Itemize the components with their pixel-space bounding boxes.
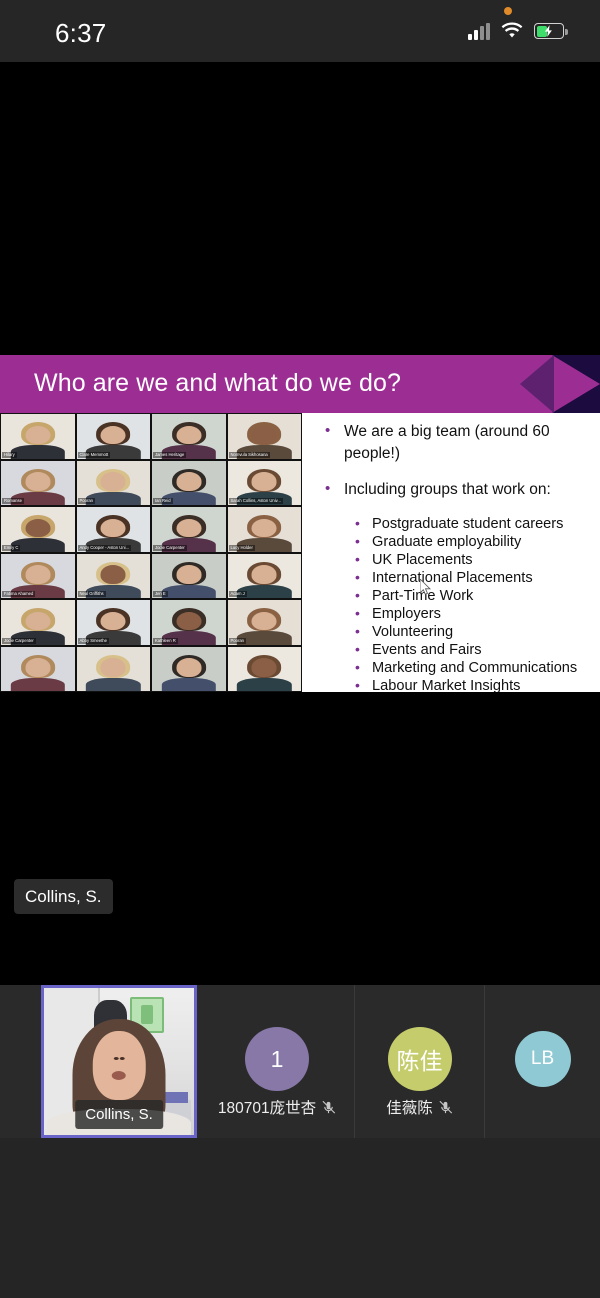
collage-participant-name: Neal Griffiths xyxy=(78,591,106,597)
mic-off-icon xyxy=(438,1100,453,1115)
slide-sub-bullet: Employers xyxy=(312,605,594,623)
collage-participant-thumb: Emily C xyxy=(1,507,75,552)
slide-sub-bullet: Graduate employability xyxy=(312,533,594,551)
participant-name: Collins, S. xyxy=(75,1100,163,1129)
collage-participant-thumb: Jen E xyxy=(152,554,226,599)
banner-chevron-mid-decoration xyxy=(520,355,554,413)
avatar: 陈佳 xyxy=(388,1027,452,1091)
collage-participant-name: Abby Smeethe xyxy=(78,638,109,644)
mic-in-use-indicator-icon xyxy=(504,7,512,15)
participant-tile[interactable]: 1 180701庞世杏 xyxy=(200,985,355,1138)
shared-slide[interactable]: Who are we and what do we do? HilaryClar… xyxy=(0,355,600,692)
collage-participant-thumb: Fatima Ahamed xyxy=(1,554,75,599)
participant-name-row: 180701庞世杏 xyxy=(200,1096,354,1118)
meeting-app-screen: 6:37 Who are we and what do we do? xyxy=(0,0,600,1298)
collage-participant-name: Ian Reid xyxy=(153,498,173,504)
participant-name: 180701庞世杏 xyxy=(218,1096,316,1118)
collage-participant-thumb: Neal Griffiths xyxy=(77,554,151,599)
collage-participant-name: Andy Cooper - Aston Uni... xyxy=(78,545,132,551)
slide-sub-bullet: Events and Fairs xyxy=(312,641,594,659)
slide-title: Who are we and what do we do? xyxy=(34,369,401,398)
call-controls-toolbar xyxy=(0,1138,600,1298)
slide-sub-bullet: Volunteering xyxy=(312,623,594,641)
collage-participant-thumb: Kathleen R xyxy=(152,600,226,645)
collage-participant-name: Sarah Collins, Aston Univ... xyxy=(229,498,283,504)
active-speaker-label: Collins, S. xyxy=(14,879,113,914)
collage-participant-thumb: Pooran xyxy=(228,600,302,645)
slide-bullet-list: We are a big team (around 60 people!) In… xyxy=(302,413,600,692)
collage-participant-name: Jodie Carpenter xyxy=(2,638,36,644)
collage-participant-thumb: Jodie Carpenter xyxy=(152,507,226,552)
collage-participant-thumb xyxy=(228,647,302,692)
signal-bars-icon xyxy=(468,23,490,40)
slide-sub-bullet: Postgraduate student careers xyxy=(312,515,594,533)
collage-participant-thumb: Adam J xyxy=(228,554,302,599)
collage-participant-name: Jodie Carpenter xyxy=(153,545,187,551)
participant-tile-self[interactable]: Collins, S. xyxy=(0,985,200,1138)
collage-participant-thumb: Nomvula Sikhosana xyxy=(228,414,302,459)
collage-participant-name: James Heritage xyxy=(153,452,186,458)
collage-participant-thumb: Romanse xyxy=(1,461,75,506)
slide-sub-bullet: UK Placements xyxy=(312,551,594,569)
battery-charging-icon xyxy=(534,23,564,39)
collage-participant-thumb: Pooran xyxy=(77,461,151,506)
collage-participant-name: Hilary xyxy=(2,452,17,458)
meeting-stage[interactable]: Who are we and what do we do? HilaryClar… xyxy=(0,62,600,985)
collage-participant-thumb: James Heritage xyxy=(152,414,226,459)
slide-bullet: We are a big team (around 60 people!) xyxy=(312,421,594,465)
self-video-preview[interactable]: Collins, S. xyxy=(41,985,197,1138)
collage-participant-thumb: Jodie Carpenter xyxy=(1,600,75,645)
collage-participant-thumb xyxy=(77,647,151,692)
status-bar: 6:37 xyxy=(0,0,600,62)
slide-sub-bullet: Marketing and Communications xyxy=(312,659,594,677)
collage-participant-name: Jen E xyxy=(153,591,168,597)
mouse-cursor-icon xyxy=(420,579,432,597)
collage-participant-thumb: Hilary xyxy=(1,414,75,459)
banner-chevron-dark-decoration xyxy=(552,355,600,413)
collage-participant-thumb: Clare Memmott xyxy=(77,414,151,459)
slide-bullet: Including groups that work on: xyxy=(312,479,594,501)
slide-sub-bullet: Part-Time Work xyxy=(312,587,594,605)
collage-participant-thumb: Abby Smeethe xyxy=(77,600,151,645)
slide-sub-bullet: International Placements xyxy=(312,569,594,587)
status-time: 6:37 xyxy=(55,18,106,49)
collage-participant-name: Pooran xyxy=(229,638,247,644)
collage-participant-name: Pooran xyxy=(78,498,96,504)
collage-participant-thumb: Sarah Collins, Aston Univ... xyxy=(228,461,302,506)
avatar: 1 xyxy=(245,1027,309,1091)
participant-tile[interactable]: LB xyxy=(485,985,600,1138)
participant-name: 佳薇陈 xyxy=(386,1096,433,1118)
participant-tile[interactable]: 陈佳 佳薇陈 xyxy=(355,985,485,1138)
participant-filmstrip[interactable]: Collins, S. 1 180701庞世杏 陈佳 佳薇陈 xyxy=(0,985,600,1138)
collage-participant-name: Lucy Holder xyxy=(229,545,255,551)
collage-participant-thumb: Andy Cooper - Aston Uni... xyxy=(77,507,151,552)
collage-participant-name: Fatima Ahamed xyxy=(2,591,35,597)
collage-participant-name: Clare Memmott xyxy=(78,452,111,458)
collage-participant-thumb: Lucy Holder xyxy=(228,507,302,552)
collage-participant-name: Adam J xyxy=(229,591,247,597)
collage-participant-thumb: Ian Reid xyxy=(152,461,226,506)
collage-participant-thumb xyxy=(1,647,75,692)
collage-participant-name: Emily C xyxy=(2,545,20,551)
collage-participant-name: Nomvula Sikhosana xyxy=(229,452,270,458)
wifi-icon xyxy=(501,22,523,40)
slide-sub-bullet: Labour Market Insights xyxy=(312,677,594,692)
slide-title-banner: Who are we and what do we do? xyxy=(0,355,600,413)
participant-name-row: 佳薇陈 xyxy=(355,1096,484,1118)
slide-sub-bullet-list: Postgraduate student careersGraduate emp… xyxy=(312,515,594,692)
team-collage-image: HilaryClare MemmottJames HeritageNomvula… xyxy=(0,413,302,692)
collage-participant-name: Romanse xyxy=(2,498,24,504)
avatar: LB xyxy=(515,1031,571,1087)
mic-off-icon xyxy=(321,1100,336,1115)
status-icons xyxy=(468,17,564,45)
collage-participant-name: Kathleen R xyxy=(153,638,178,644)
collage-participant-thumb xyxy=(152,647,226,692)
